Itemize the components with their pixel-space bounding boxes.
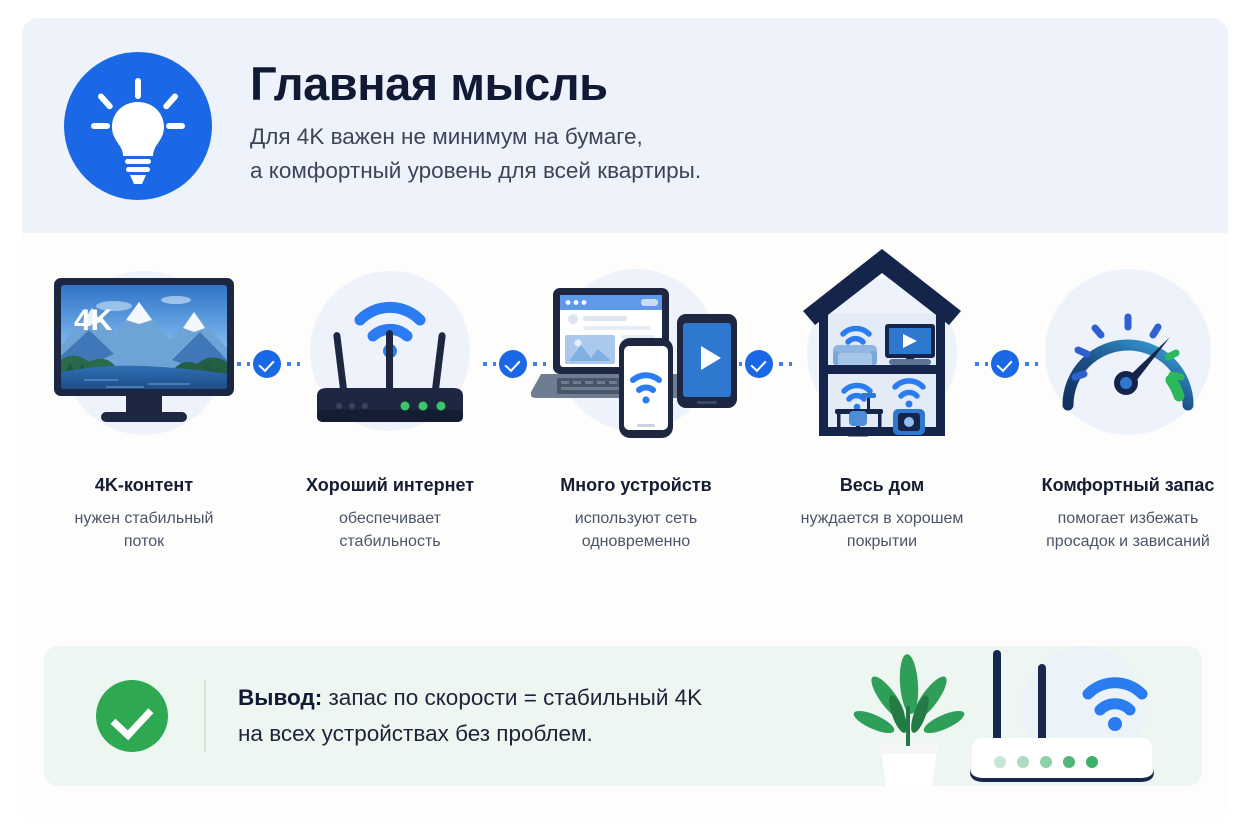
- check-circle-icon: [253, 350, 281, 378]
- multi-devices-icon: [530, 253, 742, 453]
- check-circle-icon: [745, 350, 773, 378]
- step-desc-line-2: одновременно: [582, 533, 690, 550]
- tv-4k-badge-text: 4K: [74, 304, 113, 337]
- connector-1: [250, 253, 284, 453]
- conclusion-text: Вывод: запас по скорости = стабильный 4K…: [238, 680, 702, 753]
- step-title: Комфортный запас: [1042, 475, 1215, 496]
- conclusion-banner: Вывод: запас по скорости = стабильный 4K…: [44, 646, 1202, 786]
- lightbulb-glyph: [64, 52, 212, 200]
- step-title: Много устройств: [560, 475, 711, 496]
- check-circle-icon: [991, 350, 1019, 378]
- header-text-block: Главная мысль Для 4K важен не минимум на…: [250, 59, 701, 193]
- white-router-plant-icon: [852, 646, 1192, 786]
- check-circle-icon: [499, 350, 527, 378]
- lightbulb-icon: [64, 52, 212, 200]
- house-coverage-glyph: [789, 241, 975, 451]
- step-desc-line-1: помогает избежать: [1058, 510, 1199, 527]
- check-circle-green-icon: [96, 680, 168, 752]
- multi-devices-glyph: [531, 266, 741, 441]
- steps-row: 4K 4K-контент нужен стабильный поток: [22, 253, 1228, 623]
- conclusion-line-2: на всех устройствах без проблем.: [238, 716, 702, 752]
- step-desc-line-1: нуждается в хорошем: [801, 510, 964, 527]
- page-title: Главная мысль: [250, 59, 701, 108]
- tv-4k-icon: 4K: [38, 253, 250, 453]
- speedometer-icon: [1022, 253, 1228, 453]
- house-coverage-icon: [776, 253, 988, 453]
- step-title: Весь дом: [840, 475, 924, 496]
- step-4k-content: 4K 4K-контент нужен стабильный поток: [38, 253, 250, 553]
- tv-4k-glyph: 4K: [44, 268, 244, 438]
- step-many-devices: Много устройств используют сеть одноврем…: [530, 253, 742, 553]
- step-whole-house: Весь дом нуждается в хорошем покрытии: [776, 253, 988, 553]
- step-comfort-margin: Комфортный запас помогает избежать проса…: [1022, 253, 1228, 553]
- header-subtitle-line-1: Для 4K важен не минимум на бумаге,: [250, 120, 701, 154]
- step-desc-line-2: стабильность: [339, 533, 440, 550]
- conclusion-label: Вывод:: [238, 685, 322, 710]
- conclusion-line-1: запас по скорости = стабильный 4K: [322, 685, 702, 710]
- banner-divider: [204, 680, 206, 752]
- step-desc-line-1: обеспечивает: [339, 510, 441, 527]
- infographic-card: Главная мысль Для 4K важен не минимум на…: [22, 18, 1228, 818]
- connector-3: [742, 253, 776, 453]
- wifi-router-icon: [284, 253, 496, 453]
- wifi-router-glyph: [295, 268, 485, 438]
- header-band: Главная мысль Для 4K важен не минимум на…: [22, 18, 1228, 233]
- speedometer-glyph: [1038, 273, 1218, 433]
- step-title: Хороший интернет: [306, 475, 474, 496]
- step-desc-line-2: поток: [124, 533, 164, 550]
- header-subtitle-line-2: а комфортный уровень для всей квартиры.: [250, 154, 701, 188]
- step-desc-line-2: просадок и зависаний: [1046, 533, 1210, 550]
- step-desc-line-2: покрытии: [847, 533, 917, 550]
- step-desc-line-1: нужен стабильный: [75, 510, 214, 527]
- step-desc-line-1: используют сеть: [575, 510, 697, 527]
- step-good-internet: Хороший интернет обеспечивает стабильнос…: [284, 253, 496, 553]
- step-title: 4K-контент: [95, 475, 193, 496]
- connector-2: [496, 253, 530, 453]
- connector-4: [988, 253, 1022, 453]
